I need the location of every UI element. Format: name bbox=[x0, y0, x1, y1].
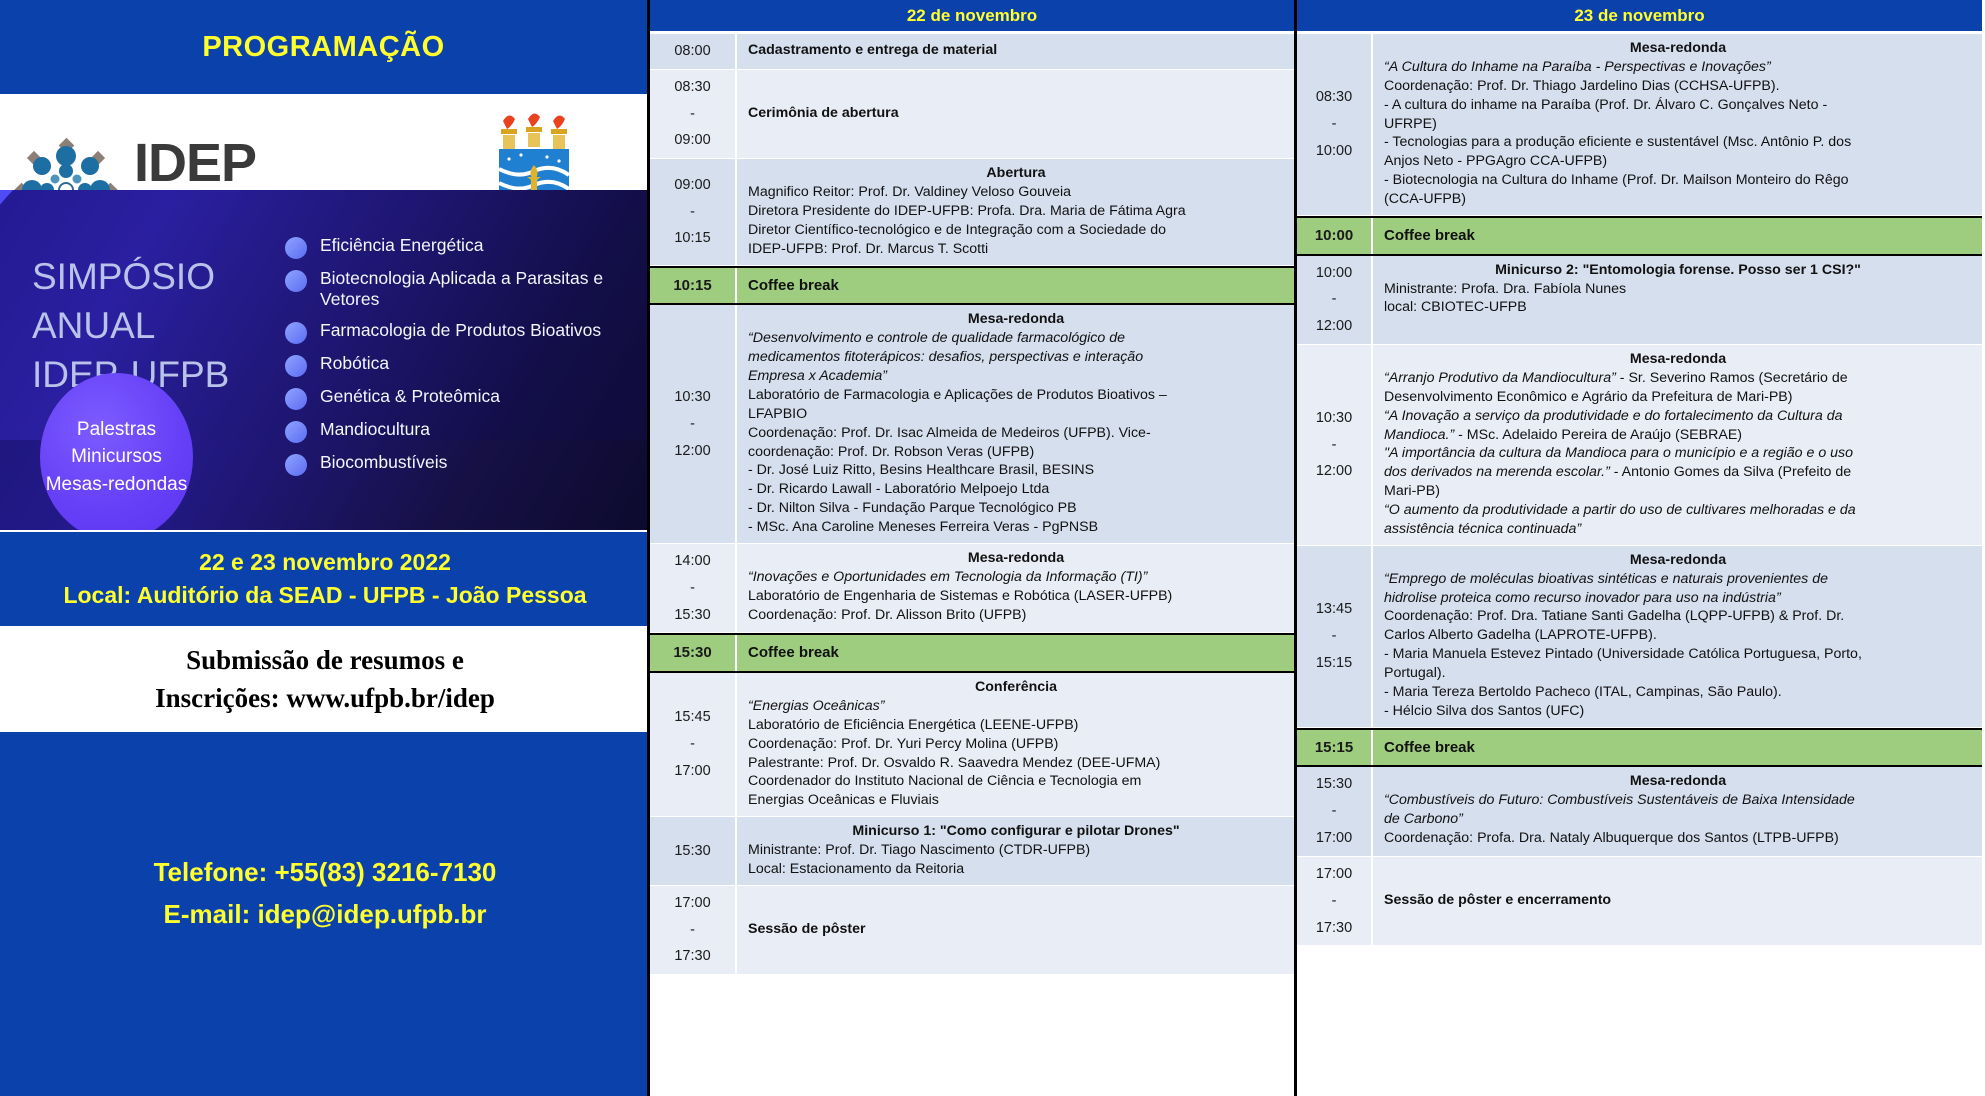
schedule-row-line: - Tecnologias para a produção eficiente … bbox=[1384, 133, 1972, 152]
schedule-row-time: 08:30-10:00 bbox=[1297, 34, 1373, 215]
time-part: 15:30 bbox=[674, 838, 710, 865]
schedule-row-line: dos derivados na merenda escolar.” - Ant… bbox=[1384, 463, 1972, 482]
time-part: - bbox=[690, 917, 695, 944]
schedule-row-line: Coordenação: Prof. Dr. Thiago Jardelino … bbox=[1384, 77, 1972, 96]
time-part: 15:30 bbox=[1316, 771, 1352, 798]
schedule-row-time: 15:30 bbox=[650, 817, 737, 885]
schedule-row-time: 17:00-17:30 bbox=[1297, 857, 1373, 945]
schedule-row-emphasis: “O aumento da produtividade a partir do … bbox=[1384, 502, 1856, 518]
schedule-row-line: - Maria Manuela Estevez Pintado (Univers… bbox=[1384, 645, 1972, 664]
schedule-row-line: - Dr. Nilton Silva - Fundação Parque Tec… bbox=[748, 499, 1284, 518]
schedule-row-content: Minicurso 2: "Entomologia forense. Posso… bbox=[1373, 256, 1982, 344]
schedule-break-row: 10:15Coffee break bbox=[650, 266, 1294, 306]
topic-item: Biocombustíveis bbox=[285, 452, 635, 476]
submission-line-1: Submissão de resumos e bbox=[186, 641, 464, 679]
time-part: 10:30 bbox=[1316, 405, 1352, 432]
schedule-row-subtitle: de Carbono” bbox=[1384, 810, 1972, 829]
submission-band: Submissão de resumos e Inscrições: www.u… bbox=[0, 626, 650, 732]
topic-label: Eficiência Energética bbox=[320, 235, 483, 256]
schedule-row-line: Mandioca.” - MSc. Adelaido Pereira de Ar… bbox=[1384, 426, 1972, 445]
time-part: - bbox=[1332, 111, 1337, 138]
schedule-row-emphasis: dos derivados na merenda escolar.” bbox=[1384, 464, 1610, 480]
schedule-row-time: 15:30 bbox=[650, 635, 737, 671]
time-part: 17:30 bbox=[1316, 915, 1352, 942]
contact-phone: Telefone: +55(83) 3216-7130 bbox=[154, 852, 497, 894]
time-part: - bbox=[690, 101, 695, 128]
schedule-row-subtitle: hidrolise proteica como recurso inovador… bbox=[1384, 589, 1972, 608]
schedule-break-row: 15:30Coffee break bbox=[650, 633, 1294, 673]
event-place: Local: Auditório da SEAD - UFPB - João P… bbox=[63, 579, 586, 612]
schedule-row-emphasis: Mandioca.” bbox=[1384, 427, 1454, 443]
time-part: - bbox=[690, 411, 695, 438]
schedule-row-line: coordenação: Prof. Dr. Robson Veras (UFP… bbox=[748, 443, 1284, 462]
bullet-dot-icon bbox=[285, 237, 307, 259]
schedule-row-content: AberturaMagnifico Reitor: Prof. Dr. Vald… bbox=[737, 159, 1294, 264]
schedule-row-content: Cerimônia de abertura bbox=[737, 70, 1294, 158]
schedule-row-title: Sessão de pôster e encerramento bbox=[1384, 891, 1611, 910]
time-part: 17:00 bbox=[674, 758, 710, 785]
schedule-row-time: 15:15 bbox=[1297, 730, 1373, 766]
time-part: 14:00 bbox=[674, 548, 710, 575]
schedule-row-heading: Mesa-redonda bbox=[1384, 772, 1972, 791]
schedule-row: 08:30-10:00Mesa-redonda“A Cultura do Inh… bbox=[1297, 34, 1982, 216]
time-part: 17:30 bbox=[674, 943, 710, 970]
schedule-row-heading: Mesa-redonda bbox=[748, 310, 1284, 329]
bullet-dot-icon bbox=[285, 454, 307, 476]
submission-link[interactable]: Inscrições: www.ufpb.br/idep bbox=[155, 679, 495, 717]
event-date: 22 e 23 novembro 2022 bbox=[199, 546, 451, 579]
schedule-row-plain: - Antonio Gomes da Silva (Prefeito de bbox=[1610, 464, 1851, 480]
schedule-day-1: 22 de novembro 08:00Cadastramento e entr… bbox=[650, 0, 1297, 1096]
topic-label: Mandiocultura bbox=[320, 419, 430, 440]
time-part: 17:00 bbox=[674, 890, 710, 917]
schedule-row-content: Cadastramento e entrega de material bbox=[737, 34, 1294, 69]
time-part: 15:15 bbox=[1315, 734, 1353, 762]
schedule-row-line: - Hélcio Silva dos Santos (UFC) bbox=[1384, 702, 1972, 721]
schedule-row: 10:30-12:00Mesa-redonda“Arranjo Produtiv… bbox=[1297, 345, 1982, 546]
schedule-row-line: Anjos Neto - PPGAgro CCA-UFPB) bbox=[1384, 152, 1972, 171]
time-part: - bbox=[690, 199, 695, 226]
schedule-row-plain: Mari-PB) bbox=[1384, 483, 1440, 499]
bullet-dot-icon bbox=[285, 322, 307, 344]
schedule-row-line: - Dr. Ricardo Lawall - Laboratório Melpo… bbox=[748, 480, 1284, 499]
schedule-row-content: Sessão de pôster e encerramento bbox=[1373, 857, 1982, 945]
page-title: PROGRAMAÇÃO bbox=[202, 31, 444, 64]
time-part: 15:45 bbox=[674, 704, 710, 731]
schedule-row-heading: Mesa-redonda bbox=[1384, 39, 1972, 58]
schedule-row-content: Mesa-redonda“Desenvolvimento e controle … bbox=[737, 305, 1294, 543]
schedule-row-content: Coffee break bbox=[1373, 218, 1982, 254]
schedule-row-time: 10:30-12:00 bbox=[1297, 345, 1373, 545]
schedule-row-content: Sessão de pôster bbox=[737, 886, 1294, 974]
schedule-row-heading: Minicurso 2: "Entomologia forense. Posso… bbox=[1384, 261, 1972, 280]
time-part: 17:00 bbox=[1316, 861, 1352, 888]
schedule-row-line: Diretora Presidente do IDEP-UFPB: Profa.… bbox=[748, 202, 1284, 221]
schedule-row-heading: Mesa-redonda bbox=[1384, 350, 1972, 369]
schedule-row-line: Palestrante: Prof. Dr. Osvaldo R. Saaved… bbox=[748, 754, 1284, 773]
schedule-row-content: Minicurso 1: "Como configurar e pilotar … bbox=[737, 817, 1294, 885]
schedule-row: 10:00-12:00Minicurso 2: "Entomologia for… bbox=[1297, 256, 1982, 345]
time-part: 12:00 bbox=[1316, 458, 1352, 485]
schedule-row-time: 08:00 bbox=[650, 34, 737, 69]
schedule-row: 15:30Minicurso 1: "Como configurar e pil… bbox=[650, 817, 1294, 886]
schedule-row-time: 10:00 bbox=[1297, 218, 1373, 254]
schedule-row-plain: - Sr. Severino Ramos (Secretário de bbox=[1616, 370, 1848, 386]
schedule-row-heading: Conferência bbox=[748, 678, 1284, 697]
schedule-row-time: 09:00-10:15 bbox=[650, 159, 737, 264]
schedule-row-subtitle: “Energias Oceânicas” bbox=[748, 697, 1284, 716]
schedule-row-line: Desenvolvimento Econômico e Agrário da P… bbox=[1384, 388, 1972, 407]
schedule-row-line: Magnifico Reitor: Prof. Dr. Valdiney Vel… bbox=[748, 183, 1284, 202]
schedule-row-subtitle: “Desenvolvimento e controle de qualidade… bbox=[748, 329, 1284, 348]
time-part: 15:30 bbox=[674, 602, 710, 629]
schedule-row-heading: Mesa-redonda bbox=[1384, 551, 1972, 570]
time-part: 10:00 bbox=[1316, 138, 1352, 165]
schedule-row-time: 10:00-12:00 bbox=[1297, 256, 1373, 344]
schedule-row-title: Sessão de pôster bbox=[748, 920, 866, 939]
schedule-row-line: Ministrante: Prof. Dr. Tiago Nascimento … bbox=[748, 841, 1284, 860]
contact-email[interactable]: E-mail: idep@idep.ufpb.br bbox=[164, 894, 487, 936]
schedule-row-line: Carlos Alberto Gadelha (LAPROTE-UFPB). bbox=[1384, 626, 1972, 645]
schedule-row-time: 13:45-15:15 bbox=[1297, 546, 1373, 727]
schedule-row: 17:00-17:30Sessão de pôster bbox=[650, 886, 1294, 975]
schedule-row-content: Coffee break bbox=[737, 268, 1294, 304]
time-part: 13:45 bbox=[1316, 596, 1352, 623]
schedule-row-line: - Dr. José Luiz Ritto, Besins Healthcare… bbox=[748, 461, 1284, 480]
schedule-row-line: - MSc. Ana Caroline Meneses Ferreira Ver… bbox=[748, 518, 1284, 537]
schedule-row-heading: Minicurso 1: "Como configurar e pilotar … bbox=[748, 822, 1284, 841]
schedule-row-subtitle: “A Cultura do Inhame na Paraíba - Perspe… bbox=[1384, 58, 1972, 77]
schedule-row-line: Coordenação: Profa. Dra. Nataly Albuquer… bbox=[1384, 829, 1972, 848]
event-info-band: 22 e 23 novembro 2022 Local: Auditório d… bbox=[0, 530, 650, 626]
schedule-row-line: “A Inovação a serviço da produtividade e… bbox=[1384, 407, 1972, 426]
schedule-row-plain: Desenvolvimento Econômico e Agrário da P… bbox=[1384, 389, 1792, 405]
schedule-row-content: Mesa-redonda“Inovações e Oportunidades e… bbox=[737, 544, 1294, 632]
programme-poster: PROGRAMAÇÃO bbox=[0, 0, 1985, 1096]
time-part: 17:00 bbox=[1316, 825, 1352, 852]
schedule-row-line: Local: Estacionamento da Reitoria bbox=[748, 860, 1284, 879]
schedule-row: 10:30-12:00Mesa-redonda“Desenvolvimento … bbox=[650, 305, 1294, 544]
schedule-row-title: Coffee break bbox=[748, 643, 839, 663]
schedule-row-emphasis: assistência técnica continuada” bbox=[1384, 521, 1581, 537]
topic-label: Biotecnologia Aplicada a Parasitas e Vet… bbox=[320, 268, 635, 311]
schedule-row-title: Cadastramento e entrega de material bbox=[748, 41, 997, 60]
topic-label: Robótica bbox=[320, 353, 389, 374]
poster-panel: PROGRAMAÇÃO bbox=[0, 0, 650, 1096]
bullet-dot-icon bbox=[285, 270, 307, 292]
schedule-row-line: Laboratório de Engenharia de Sistemas e … bbox=[748, 587, 1284, 606]
day-2-header: 23 de novembro bbox=[1297, 0, 1982, 34]
schedule-row-subtitle: medicamentos fitoterápicos: desafios, pe… bbox=[748, 348, 1284, 367]
schedule-row-line: Mari-PB) bbox=[1384, 482, 1972, 501]
idep-wordmark-primary: IDEP bbox=[134, 136, 274, 190]
time-part: 10:30 bbox=[674, 384, 710, 411]
topics-list: Eficiência Energética Biotecnologia Apli… bbox=[285, 235, 635, 485]
schedule-row-content: Coffee break bbox=[737, 635, 1294, 671]
time-part: 08:30 bbox=[674, 74, 710, 101]
schedule-row-line: - Biotecnologia na Cultura do Inhame (Pr… bbox=[1384, 171, 1972, 190]
bullet-dot-icon bbox=[285, 355, 307, 377]
time-part: 08:30 bbox=[1316, 84, 1352, 111]
schedule-row-line: IDEP-UFPB: Prof. Dr. Marcus T. Scotti bbox=[748, 240, 1284, 259]
schedule-row-emphasis: “A Inovação a serviço da produtividade e… bbox=[1384, 408, 1842, 424]
topic-item: Biotecnologia Aplicada a Parasitas e Vet… bbox=[285, 268, 635, 311]
event-title-line-2: ANUAL bbox=[32, 301, 229, 350]
topic-label: Biocombustíveis bbox=[320, 452, 447, 473]
topic-label: Genética & Proteômica bbox=[320, 386, 500, 407]
format-item-1: Minicursos bbox=[71, 443, 162, 471]
topic-item: Genética & Proteômica bbox=[285, 386, 635, 410]
schedule-row-content: Mesa-redonda“A Cultura do Inhame na Para… bbox=[1373, 34, 1982, 215]
time-part: 10:00 bbox=[1315, 222, 1353, 250]
time-part: - bbox=[1332, 286, 1337, 313]
time-part: 09:00 bbox=[674, 127, 710, 154]
schedule-row-line: UFRPE) bbox=[1384, 115, 1972, 134]
schedule-row-subtitle: “Inovações e Oportunidades em Tecnologia… bbox=[748, 568, 1284, 587]
schedule-row-line: "A importância da cultura da Mandioca pa… bbox=[1384, 444, 1972, 463]
time-part: 10:15 bbox=[673, 272, 711, 300]
poster-title-bar: PROGRAMAÇÃO bbox=[0, 0, 647, 95]
time-part: 15:30 bbox=[673, 639, 711, 667]
schedule-row: 15:45-17:00Conferência“Energias Oceânica… bbox=[650, 673, 1294, 817]
schedule-row-content: Coffee break bbox=[1373, 730, 1982, 766]
schedule-break-row: 15:15Coffee break bbox=[1297, 728, 1982, 768]
schedule-row-line: LFAPBIO bbox=[748, 405, 1284, 424]
schedule-row-line: Ministrante: Profa. Dra. Fabíola Nunes bbox=[1384, 280, 1972, 299]
schedule-row-line: Coordenação: Prof. Dr. Alisson Brito (UF… bbox=[748, 606, 1284, 625]
schedule-row-subtitle: Empresa x Academia” bbox=[748, 367, 1284, 386]
schedule-row-content: Conferência“Energias Oceânicas”Laboratór… bbox=[737, 673, 1294, 816]
schedule-row-time: 10:15 bbox=[650, 268, 737, 304]
schedule-row-line: Coordenador do Instituto Nacional de Ciê… bbox=[748, 772, 1284, 791]
schedule-row-title: Coffee break bbox=[1384, 226, 1475, 246]
schedule-row-line: “Arranjo Produtivo da Mandiocultura” - S… bbox=[1384, 369, 1972, 388]
schedule-row-time: 14:00-15:30 bbox=[650, 544, 737, 632]
schedule-row: 08:30-09:00Cerimônia de abertura bbox=[650, 70, 1294, 159]
schedule-row-time: 17:00-17:30 bbox=[650, 886, 737, 974]
schedule-row-line: Portugal). bbox=[1384, 664, 1972, 683]
schedule-row-content: Mesa-redonda“Emprego de moléculas bioati… bbox=[1373, 546, 1982, 727]
time-part: 12:00 bbox=[674, 438, 710, 465]
schedule-row: 08:00Cadastramento e entrega de material bbox=[650, 34, 1294, 70]
schedule-row-line: Laboratório de Farmacologia e Aplicações… bbox=[748, 386, 1284, 405]
schedule-row: 17:00-17:30Sessão de pôster e encerramen… bbox=[1297, 857, 1982, 946]
schedule-row-time: 15:30-17:00 bbox=[1297, 767, 1373, 855]
event-title-line-1: SIMPÓSIO bbox=[32, 252, 229, 301]
time-part: 10:00 bbox=[1316, 260, 1352, 287]
schedule-row-title: Coffee break bbox=[748, 276, 839, 296]
schedule-row-time: 10:30-12:00 bbox=[650, 305, 737, 543]
contact-band: Telefone: +55(83) 3216-7130 E-mail: idep… bbox=[0, 732, 650, 1096]
schedule-row-title: Coffee break bbox=[1384, 738, 1475, 758]
format-item-2: Mesas-redondas bbox=[46, 471, 188, 499]
schedule-row-line: Coordenação: Prof. Dra. Tatiane Santi Ga… bbox=[1384, 607, 1972, 626]
schedule-row-emphasis: "A importância da cultura da Mandioca pa… bbox=[1384, 445, 1853, 461]
time-part: 09:00 bbox=[674, 172, 710, 199]
schedule-row-subtitle: “Combustíveis do Futuro: Combustíveis Su… bbox=[1384, 791, 1972, 810]
schedule-row-line: Coordenação: Prof. Dr. Yuri Percy Molina… bbox=[748, 735, 1284, 754]
schedule-row-line: - A cultura do inhame na Paraíba (Prof. … bbox=[1384, 96, 1972, 115]
schedule-row: 13:45-15:15Mesa-redonda“Emprego de moléc… bbox=[1297, 546, 1982, 728]
time-part: 10:15 bbox=[674, 225, 710, 252]
schedule-row: 14:00-15:30Mesa-redonda“Inovações e Opor… bbox=[650, 544, 1294, 633]
topic-item: Mandiocultura bbox=[285, 419, 635, 443]
time-part: - bbox=[1332, 623, 1337, 650]
schedule-row-heading: Mesa-redonda bbox=[748, 549, 1284, 568]
schedule-row-line: local: CBIOTEC-UFPB bbox=[1384, 298, 1972, 317]
schedule-row-line: Coordenação: Prof. Dr. Isac Almeida de M… bbox=[748, 424, 1284, 443]
schedule-row-heading: Abertura bbox=[748, 164, 1284, 183]
topic-item: Robótica bbox=[285, 353, 635, 377]
schedule-row-emphasis: “Arranjo Produtivo da Mandiocultura” bbox=[1384, 370, 1616, 386]
day-1-header: 22 de novembro bbox=[650, 0, 1294, 34]
schedule-row-line: Energias Oceânicas e Fluviais bbox=[748, 791, 1284, 810]
time-part: - bbox=[1332, 798, 1337, 825]
schedule-row: 15:30-17:00Mesa-redonda“Combustíveis do … bbox=[1297, 767, 1982, 856]
time-part: - bbox=[1332, 888, 1337, 915]
bullet-dot-icon bbox=[285, 421, 307, 443]
schedule-day-2: 23 de novembro 08:30-10:00Mesa-redonda“A… bbox=[1297, 0, 1982, 1096]
schedule-row-title: Cerimônia de abertura bbox=[748, 104, 899, 123]
schedule-row-line: Diretor Científico-tecnológico e de Inte… bbox=[748, 221, 1284, 240]
schedule-row-line: “O aumento da produtividade a partir do … bbox=[1384, 501, 1972, 520]
topic-label: Farmacologia de Produtos Bioativos bbox=[320, 320, 601, 341]
bullet-dot-icon bbox=[285, 388, 307, 410]
schedule-row-content: Mesa-redonda“Arranjo Produtivo da Mandio… bbox=[1373, 345, 1982, 545]
time-part: 15:15 bbox=[1316, 650, 1352, 677]
time-part: - bbox=[690, 575, 695, 602]
schedule-row-subtitle: “Emprego de moléculas bioativas sintétic… bbox=[1384, 570, 1972, 589]
formats-bubble: Palestras Minicursos Mesas-redondas bbox=[40, 373, 193, 530]
day-1-rows: 08:00Cadastramento e entrega de material… bbox=[650, 34, 1294, 1096]
schedule-row-content: Mesa-redonda“Combustíveis do Futuro: Com… bbox=[1373, 767, 1982, 855]
schedule-row-line: Laboratório de Eficiência Energética (LE… bbox=[748, 716, 1284, 735]
schedule-row-line: assistência técnica continuada” bbox=[1384, 520, 1972, 539]
schedule-row-time: 15:45-17:00 bbox=[650, 673, 737, 816]
schedule-row-plain: - MSc. Adelaido Pereira de Araújo (SEBRA… bbox=[1454, 427, 1742, 443]
format-item-0: Palestras bbox=[77, 416, 156, 444]
schedule-row-line: (CCA-UFPB) bbox=[1384, 190, 1972, 209]
day-2-rows: 08:30-10:00Mesa-redonda“A Cultura do Inh… bbox=[1297, 34, 1982, 1096]
time-part: - bbox=[1332, 432, 1337, 459]
topic-item: Eficiência Energética bbox=[285, 235, 635, 259]
time-part: 08:00 bbox=[674, 38, 710, 65]
schedule-row-line: - Maria Tereza Bertoldo Pacheco (ITAL, C… bbox=[1384, 683, 1972, 702]
time-part: - bbox=[690, 731, 695, 758]
schedule-break-row: 10:00Coffee break bbox=[1297, 216, 1982, 256]
time-part: 12:00 bbox=[1316, 313, 1352, 340]
poster-hero: SIMPÓSIO ANUAL IDEP-UFPB Palestras Minic… bbox=[0, 190, 650, 530]
topic-item: Farmacologia de Produtos Bioativos bbox=[285, 320, 635, 344]
schedule-row: 09:00-10:15AberturaMagnifico Reitor: Pro… bbox=[650, 159, 1294, 265]
schedule-row-time: 08:30-09:00 bbox=[650, 70, 737, 158]
